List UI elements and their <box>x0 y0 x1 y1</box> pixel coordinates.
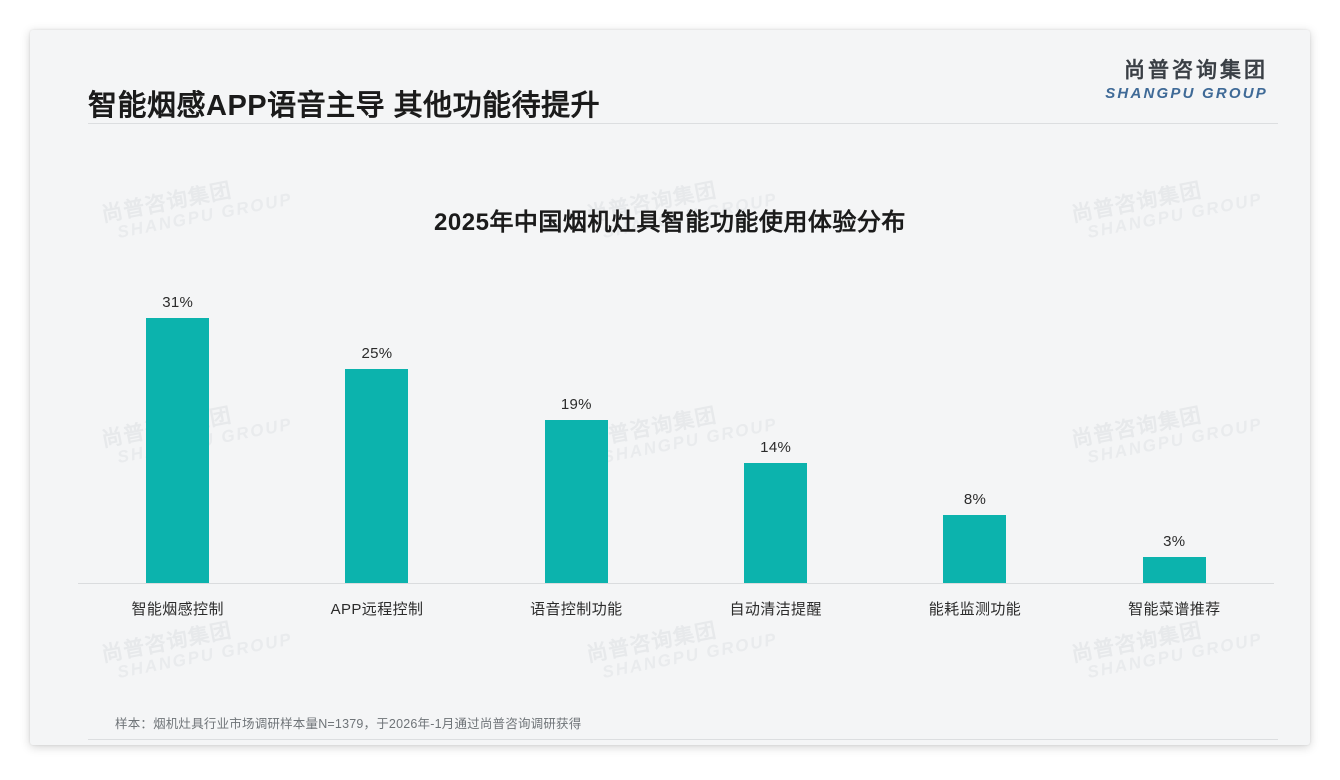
bar <box>146 318 209 583</box>
x-axis-label: 语音控制功能 <box>477 598 676 619</box>
watermark: 尚普咨询集团SHANGPU GROUP <box>1070 609 1264 684</box>
bar-value-label: 31% <box>162 294 193 311</box>
watermark-english-text: SHANGPU GROUP <box>601 630 779 681</box>
chart-title: 2025年中国烟机灶具智能功能使用体验分布 <box>30 202 1310 237</box>
bar-value-label: 14% <box>760 439 791 456</box>
bar <box>1143 557 1206 583</box>
bar-value-label: 25% <box>362 345 393 362</box>
bar-value-label: 3% <box>1163 533 1185 550</box>
bar-column: 25% <box>277 292 476 583</box>
watermark: 尚普咨询集团SHANGPU GROUP <box>100 609 294 684</box>
bar <box>943 515 1006 583</box>
x-axis-label: 智能菜谱推荐 <box>1075 598 1274 619</box>
bar <box>545 420 608 583</box>
slide-header: 智能烟感APP语音主导 其他功能待提升 尚普咨询集团 SHANGPU GROUP <box>30 30 1310 124</box>
watermark: 尚普咨询集团SHANGPU GROUP <box>585 609 779 684</box>
bar-chart-plot: 31%25%19%14%8%3% <box>78 292 1274 583</box>
bar-column: 31% <box>78 292 277 583</box>
bar-column: 14% <box>676 292 875 583</box>
logo-chinese-text: 尚普咨询集团 <box>1105 58 1268 84</box>
bar-column: 19% <box>477 292 676 583</box>
page-title: 智能烟感APP语音主导 其他功能待提升 <box>88 82 600 124</box>
bar-column: 8% <box>875 292 1074 583</box>
bar-value-label: 19% <box>561 396 592 413</box>
x-axis-label: 智能烟感控制 <box>78 598 277 619</box>
bar <box>345 369 408 583</box>
x-axis-label: APP远程控制 <box>277 598 476 619</box>
slide-card: 尚普咨询集团SHANGPU GROUP尚普咨询集团SHANGPU GROUP尚普… <box>30 30 1310 745</box>
logo-english-text: SHANGPU GROUP <box>1105 85 1268 104</box>
header-divider <box>88 123 1278 124</box>
chart-x-axis-labels: 智能烟感控制APP远程控制语音控制功能自动清洁提醒能耗监测功能智能菜谱推荐 <box>78 598 1274 619</box>
watermark-english-text: SHANGPU GROUP <box>116 630 294 681</box>
x-axis-label: 自动清洁提醒 <box>676 598 875 619</box>
bar-column: 3% <box>1075 292 1274 583</box>
x-axis-label: 能耗监测功能 <box>875 598 1074 619</box>
watermark-english-text: SHANGPU GROUP <box>1086 630 1264 681</box>
footer-divider <box>88 739 1278 740</box>
bar <box>744 463 807 583</box>
sample-note: 样本：烟机灶具行业市场调研样本量N=1379，于2026年-1月通过尚普咨询调研… <box>115 713 581 732</box>
brand-logo: 尚普咨询集团 SHANGPU GROUP <box>1105 58 1268 104</box>
chart-x-axis-line <box>78 583 1274 584</box>
slide-footer: ©2026.1 SHANGPU GROUP www.shangpu-china.… <box>30 742 1310 745</box>
bar-value-label: 8% <box>964 491 986 508</box>
